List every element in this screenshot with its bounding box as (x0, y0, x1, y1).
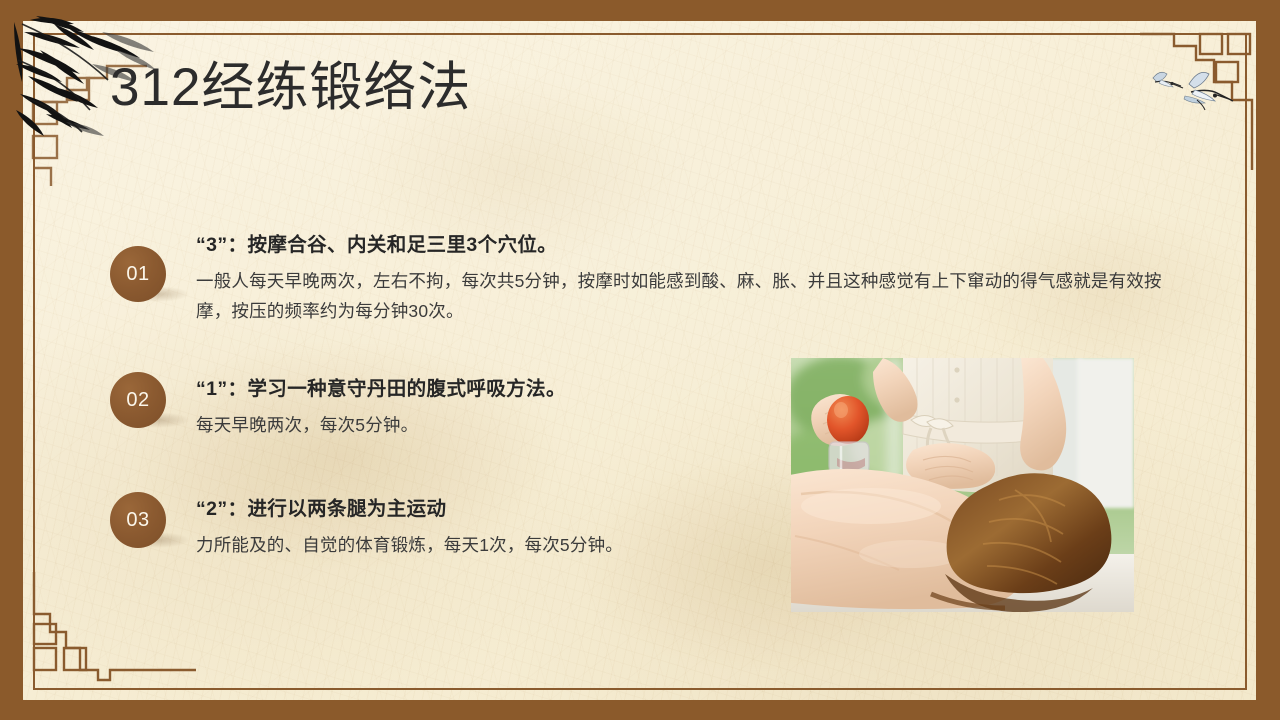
frame-rule-top (33, 33, 1247, 35)
badge-wrapper: 03 (110, 492, 196, 548)
fret-corner-top-right-icon (1140, 20, 1260, 170)
block-heading: “2”：进行以两条腿为主运动 (196, 494, 856, 524)
block-heading: “1”：学习一种意守丹田的腹式呼吸方法。 (196, 374, 856, 404)
slide-root: 312经练锻络法 01 “3”：按摩合谷、内关和足三里3个穴位。 一般人每天早晚… (0, 0, 1280, 720)
page-title: 312经练锻络法 (110, 56, 471, 120)
content-block: 03 “2”：进行以两条腿为主运动 力所能及的、自觉的体育锻炼，每天1次，每次5… (110, 492, 1170, 560)
block-body: 力所能及的、自觉的体育锻炼，每天1次，每次5分钟。 (196, 530, 856, 560)
content-block: 02 “1”：学习一种意守丹田的腹式呼吸方法。 每天早晚两次，每次5分钟。 (110, 372, 1170, 440)
content-text: “2”：进行以两条腿为主运动 力所能及的、自觉的体育锻炼，每天1次，每次5分钟。 (196, 492, 856, 560)
frame-rule-bottom (33, 688, 1247, 690)
fret-corner-bottom-left-icon (20, 572, 200, 702)
step-number-badge[interactable]: 03 (110, 492, 166, 548)
content-block-list: 01 “3”：按摩合谷、内关和足三里3个穴位。 一般人每天早晚两次，左右不拘，每… (110, 228, 1170, 560)
block-body: 每天早晚两次，每次5分钟。 (196, 410, 856, 440)
badge-wrapper: 02 (110, 372, 196, 428)
content-block: 01 “3”：按摩合谷、内关和足三里3个穴位。 一般人每天早晚两次，左右不拘，每… (110, 228, 1170, 326)
badge-wrapper: 01 (110, 228, 196, 302)
content-text: “1”：学习一种意守丹田的腹式呼吸方法。 每天早晚两次，每次5分钟。 (196, 372, 856, 440)
block-heading: “3”：按摩合谷、内关和足三里3个穴位。 (196, 230, 1170, 260)
fret-corner-top-left-icon (22, 20, 202, 220)
content-text: “3”：按摩合谷、内关和足三里3个穴位。 一般人每天早晚两次，左右不拘，每次共5… (196, 228, 1170, 326)
step-number-badge[interactable]: 02 (110, 372, 166, 428)
step-number-badge[interactable]: 01 (110, 246, 166, 302)
block-body: 一般人每天早晚两次，左右不拘，每次共5分钟，按摩时如能感到酸、麻、胀、并且这种感… (196, 266, 1170, 326)
